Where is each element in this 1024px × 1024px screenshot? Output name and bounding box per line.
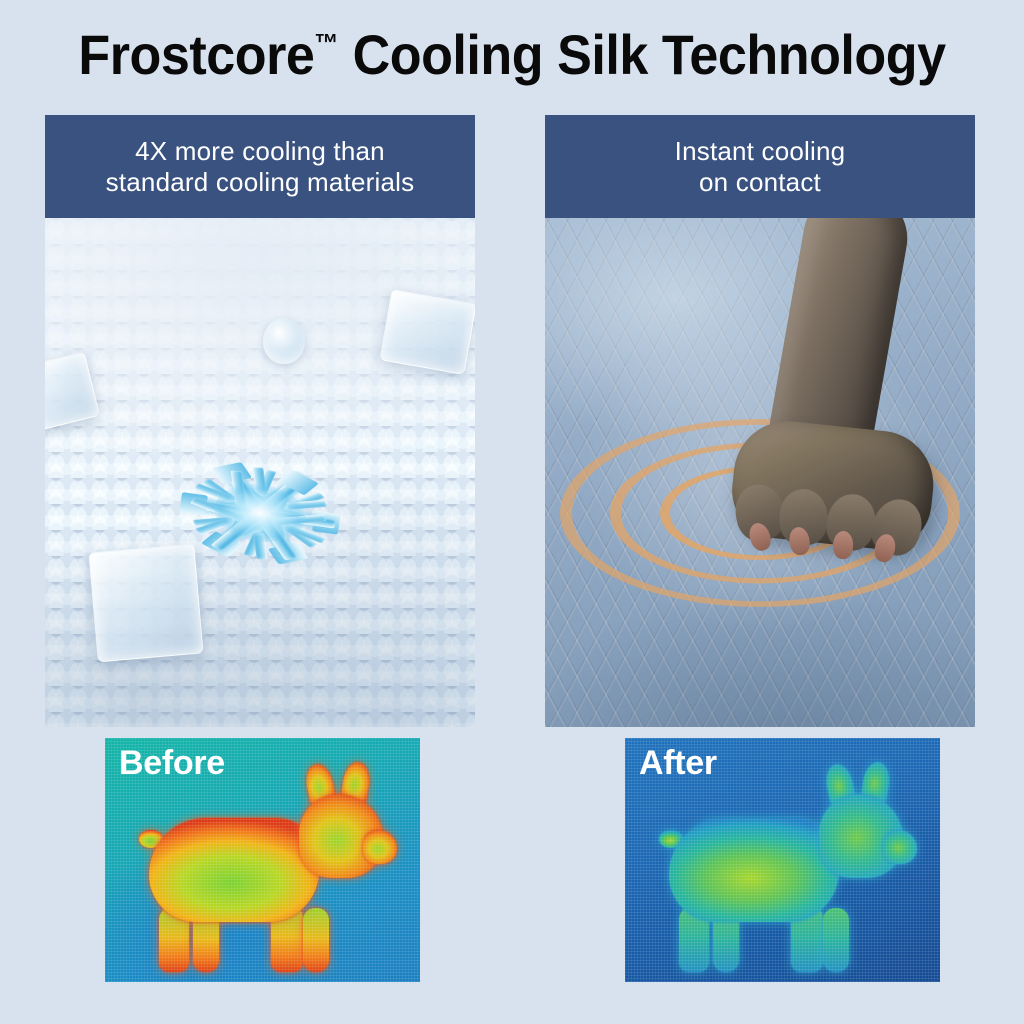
after-label: After bbox=[639, 744, 717, 783]
title-suffix: Cooling Silk Technology bbox=[339, 23, 946, 86]
panel-banner-cooling-power: 4X more cooling than standard cooling ma… bbox=[45, 115, 475, 218]
infographic-root: Frostcore™ Cooling Silk Technology 4X mo… bbox=[0, 0, 1024, 1024]
title-brand: Frostcore bbox=[78, 23, 314, 86]
photo-paw-on-mat bbox=[545, 218, 975, 727]
feature-panel-cooling-power: 4X more cooling than standard cooling ma… bbox=[45, 115, 475, 727]
feature-panel-instant-contact: Instant cooling on contact bbox=[545, 115, 975, 727]
ice-cube-icon bbox=[379, 289, 475, 375]
trademark-symbol: ™ bbox=[314, 28, 338, 58]
thermal-comparison-before: Before bbox=[105, 738, 420, 982]
banner-text-block: Instant cooling on contact bbox=[661, 136, 860, 197]
thermal-comparison-after: After bbox=[625, 738, 940, 982]
page-title: Frostcore™ Cooling Silk Technology bbox=[36, 26, 988, 85]
photo-snowflake-on-fabric bbox=[45, 218, 475, 727]
banner-line-1: Instant cooling bbox=[675, 136, 846, 166]
banner-line-2: on contact bbox=[699, 167, 821, 197]
before-label: Before bbox=[119, 744, 225, 783]
banner-line-2: standard cooling materials bbox=[106, 167, 415, 197]
thermal-dog-silhouette bbox=[131, 778, 399, 974]
paw-toe bbox=[779, 489, 827, 545]
water-droplet-icon bbox=[263, 318, 305, 364]
banner-line-1: 4X more cooling than bbox=[135, 136, 385, 166]
thermal-dog-silhouette bbox=[651, 778, 919, 974]
banner-text-block: 4X more cooling than standard cooling ma… bbox=[92, 136, 429, 197]
panel-banner-instant-contact: Instant cooling on contact bbox=[545, 115, 975, 218]
